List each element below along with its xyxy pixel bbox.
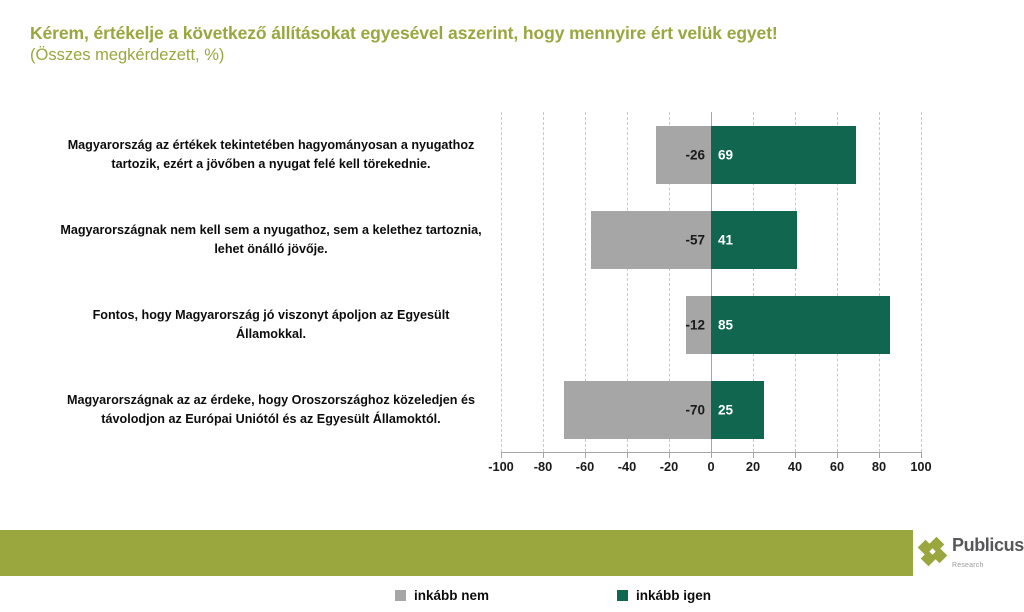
category-label: Magyarországnak nem kell sem a nyugathoz… — [52, 197, 490, 282]
x-tick-80 — [879, 452, 880, 458]
category-label-text: Magyarországnak nem kell sem a nyugathoz… — [52, 221, 490, 258]
legend-swatch-positive — [617, 590, 628, 601]
category-label: Magyarországnak az az érdeke, hogy Orosz… — [52, 367, 490, 452]
bar-row: -7025 — [501, 367, 921, 452]
category-label: Magyarország az értékek tekintetében hag… — [52, 112, 490, 197]
bar-row: -1285 — [501, 282, 921, 367]
x-tick--60 — [585, 452, 586, 458]
legend-label-negative: inkább nem — [414, 588, 489, 603]
diamond-cluster-icon — [919, 538, 949, 568]
x-tick-0 — [711, 452, 712, 458]
bar-value-label-positive: 25 — [718, 402, 733, 417]
bar-row: -5741 — [501, 197, 921, 282]
x-tick-60 — [837, 452, 838, 458]
gridline-100 — [921, 112, 922, 452]
category-label-text: Magyarország az értékek tekintetében hag… — [52, 136, 490, 173]
plot-area: -2669-5741-1285-7025 — [501, 112, 921, 452]
chart-legend: inkább nem inkább igen — [0, 588, 1024, 612]
bar-row: -2669 — [501, 112, 921, 197]
x-tick-label--60: -60 — [576, 459, 595, 474]
x-axis-ticks — [501, 452, 921, 458]
category-label-text: Magyarországnak az az érdeke, hogy Orosz… — [52, 391, 490, 428]
category-label-text: Fontos, hogy Magyarország jó viszonyt áp… — [52, 306, 490, 343]
legend-label-positive: inkább igen — [636, 588, 711, 603]
publicus-logo: Publicus Research — [913, 530, 1024, 576]
chart-title: Kérem, értékelje a következő állításokat… — [30, 22, 990, 44]
x-tick-label-20: 20 — [746, 459, 760, 474]
x-tick-label-40: 40 — [788, 459, 802, 474]
bar-value-label-positive: 85 — [718, 317, 733, 332]
bar-value-label-negative: -57 — [685, 232, 705, 247]
category-label: Fontos, hogy Magyarország jó viszonyt áp… — [52, 282, 490, 367]
bar-value-label-positive: 41 — [718, 232, 733, 247]
x-tick--40 — [627, 452, 628, 458]
x-tick-label--80: -80 — [534, 459, 553, 474]
x-tick-label-60: 60 — [830, 459, 844, 474]
x-tick--100 — [501, 452, 502, 458]
logo-wordmark: Publicus Research — [952, 536, 1024, 571]
x-tick-label--40: -40 — [618, 459, 637, 474]
x-tick-label--100: -100 — [488, 459, 514, 474]
x-axis-tick-labels: -100-80-60-40-20020406080100 — [501, 459, 921, 479]
x-tick-label-0: 0 — [707, 459, 714, 474]
bar-value-label-negative: -70 — [685, 402, 705, 417]
legend-swatch-negative — [395, 590, 406, 601]
bar-positive[interactable] — [711, 296, 890, 354]
x-tick-label-80: 80 — [872, 459, 886, 474]
logo-tagline: Research — [952, 562, 984, 569]
x-tick-20 — [753, 452, 754, 458]
chart-subtitle: (Összes megkérdezett, %) — [30, 45, 990, 66]
footer-band — [0, 530, 913, 576]
legend-item-inkabb-igen[interactable]: inkább igen — [617, 588, 711, 603]
x-tick-100 — [921, 452, 922, 458]
chart-container: Magyarország az értékek tekintetében hag… — [0, 100, 1024, 520]
bar-value-label-negative: -12 — [685, 317, 705, 332]
bar-rows: -2669-5741-1285-7025 — [501, 112, 921, 452]
bar-value-label-negative: -26 — [685, 147, 705, 162]
x-tick-label--20: -20 — [660, 459, 679, 474]
x-tick-40 — [795, 452, 796, 458]
category-label-column: Magyarország az értékek tekintetében hag… — [52, 112, 490, 452]
x-tick--20 — [669, 452, 670, 458]
page-title: Kérem, értékelje a következő állításokat… — [30, 22, 990, 67]
x-tick--80 — [543, 452, 544, 458]
logo-name: Publicus — [952, 535, 1024, 555]
bar-value-label-positive: 69 — [718, 147, 733, 162]
legend-item-inkabb-nem[interactable]: inkább nem — [395, 588, 489, 603]
x-tick-label-100: 100 — [910, 459, 931, 474]
